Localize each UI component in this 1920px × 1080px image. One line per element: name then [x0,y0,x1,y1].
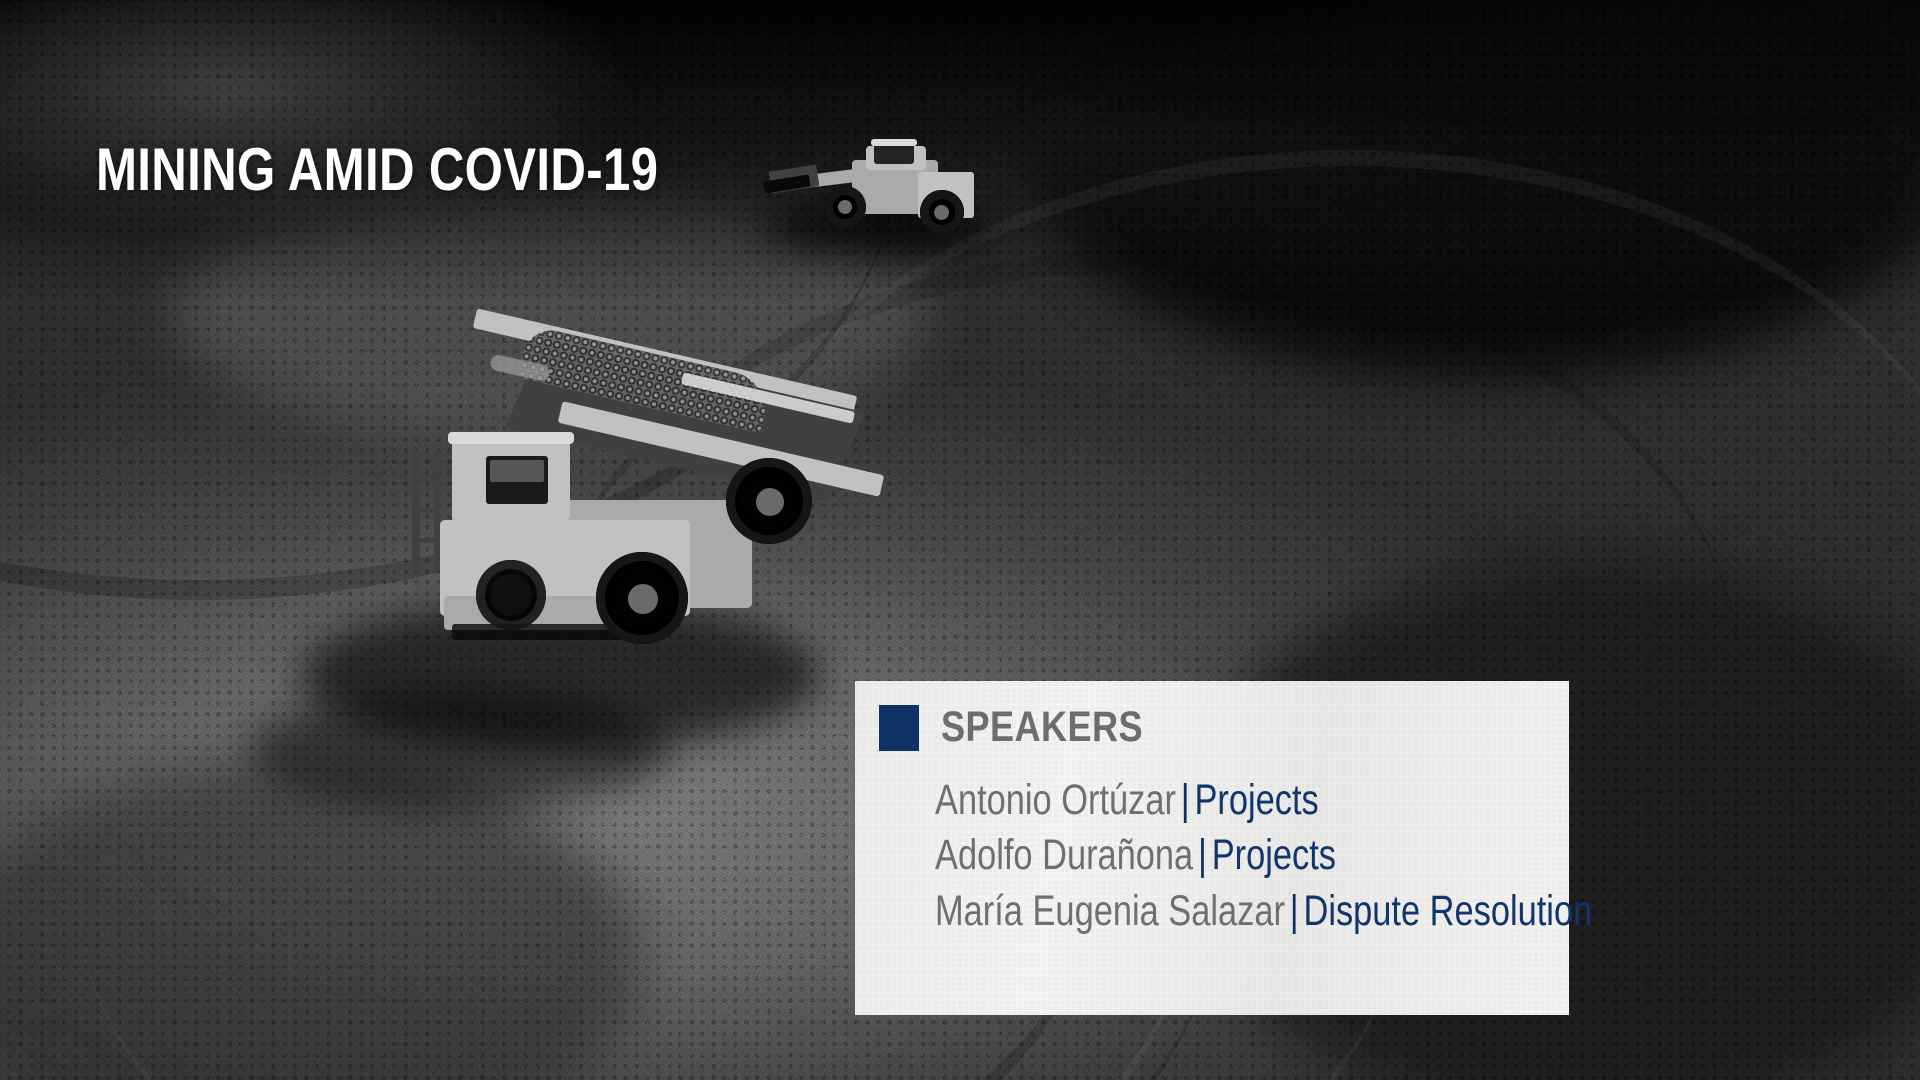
speaker-name: Adolfo Durañona [935,831,1193,879]
speaker-row: Adolfo Durañona|Projects [935,828,1431,883]
speaker-separator: | [1290,887,1299,935]
speaker-role: Projects [1212,831,1336,879]
speakers-list: Antonio Ortúzar|Projects Adolfo Durañona… [935,773,1555,939]
speaker-role: Dispute Resolution [1303,887,1592,935]
speakers-panel: SPEAKERS Antonio Ortúzar|Projects Adolfo… [855,681,1569,1015]
mining-webinar-banner: MINING AMID COVID-19 SPEAKERS Antonio Or… [0,0,1920,1080]
speakers-heading: SPEAKERS [941,703,1143,752]
speaker-row: Antonio Ortúzar|Projects [935,773,1431,828]
speaker-separator: | [1198,831,1207,879]
speaker-separator: | [1181,776,1190,824]
banner-title: MINING AMID COVID-19 [96,140,658,200]
speaker-role: Projects [1194,776,1318,824]
navy-square-bullet-icon [879,705,919,751]
speakers-heading-row: SPEAKERS [879,703,1182,752]
speaker-name: María Eugenia Salazar [935,887,1285,935]
speaker-name: Antonio Ortúzar [935,776,1176,824]
speaker-row: María Eugenia Salazar|Dispute Resolution [935,884,1431,939]
